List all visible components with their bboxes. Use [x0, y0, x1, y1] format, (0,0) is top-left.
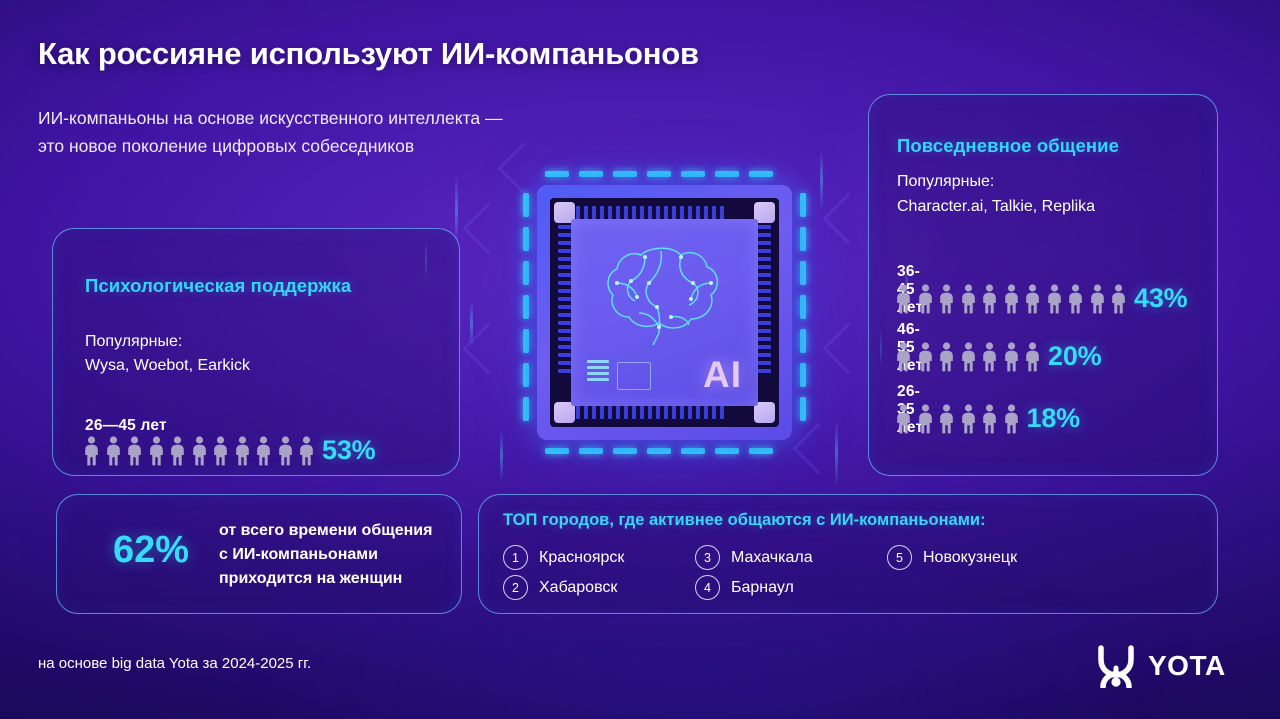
person-icon [895, 342, 912, 372]
card-psych-pictogram-row: 53% [83, 435, 375, 466]
card-psych-popular-label: Популярные: [85, 330, 182, 354]
person-icon [255, 436, 272, 466]
person-icon [1046, 284, 1063, 314]
person-icon [212, 436, 229, 466]
person-icon [960, 342, 977, 372]
city-rank-badge: 3 [695, 545, 720, 570]
card-psych-age-group: 26—45 лет [85, 417, 167, 435]
city-name: Барнаул [731, 579, 794, 597]
person-icon [298, 436, 315, 466]
person-icon [981, 284, 998, 314]
chip-pins-bottom [576, 404, 728, 419]
city-rank-badge: 1 [503, 545, 528, 570]
chip-corner-pad-br [754, 402, 775, 423]
person-icon [938, 404, 955, 434]
chip-ai-label: AI [703, 354, 742, 396]
card-top-cities: ТОП городов, где активнее общаются с ИИ-… [478, 494, 1218, 614]
yota-logo-wordmark: YOTA [1148, 650, 1226, 682]
women-share-percent: 62% [91, 529, 211, 572]
city-name: Красноярск [539, 549, 624, 567]
card-daily-popular-label: Популярные: [897, 170, 994, 194]
person-figures [895, 404, 1020, 434]
person-icon [938, 284, 955, 314]
page-title: Как россияне используют ИИ-компаньонов [38, 36, 699, 72]
person-icon [277, 436, 294, 466]
person-icon [895, 284, 912, 314]
city-rank-badge: 5 [887, 545, 912, 570]
person-icon [83, 436, 100, 466]
card-daily-title: Повседневное общение [897, 135, 1119, 157]
person-icon [1067, 284, 1084, 314]
card-psych-percent: 53% [322, 435, 375, 466]
age-group-percent: 18% [1027, 403, 1080, 434]
person-icon [126, 436, 143, 466]
subtitle-line-1: ИИ-компаньоны на основе искусственного и… [38, 104, 738, 132]
city-list-item: 3 Махачкала [695, 545, 813, 570]
chip-core: AI [571, 219, 758, 406]
brain-circuit-icon [583, 233, 748, 353]
person-icon [1089, 284, 1106, 314]
city-name: Махачкала [731, 549, 813, 567]
card-psych-title: Психологическая поддержка [85, 275, 351, 297]
card-psych-popular-apps: Wysa, Woebot, Earkick [85, 354, 250, 378]
women-text-line-2: с ИИ-компаньонами [219, 543, 449, 567]
person-icon [981, 404, 998, 434]
subtitle-line-2: это новое поколение цифровых собеседнико… [38, 132, 738, 160]
pictogram-row: 43% [895, 283, 1187, 314]
city-list-item: 5 Новокузнецк [887, 545, 1017, 570]
city-list-item: 1 Красноярск [503, 545, 624, 570]
person-icon [981, 342, 998, 372]
person-icon [148, 436, 165, 466]
city-list-item: 2 Хабаровск [503, 575, 617, 600]
person-icon [234, 436, 251, 466]
person-icon [105, 436, 122, 466]
yota-logo: YOTA [1097, 644, 1226, 688]
city-name: Новокузнецк [923, 549, 1017, 567]
age-group-percent: 43% [1134, 283, 1187, 314]
person-icon [1024, 284, 1041, 314]
chip-pins-right [756, 225, 771, 377]
chip-inner-square [617, 362, 651, 390]
person-icon [960, 284, 977, 314]
person-icon [917, 284, 934, 314]
person-icon [169, 436, 186, 466]
person-icon [960, 404, 977, 434]
card-psychological-support: Психологическая поддержка Популярные: Wy… [52, 228, 460, 476]
person-figures [895, 342, 1041, 372]
person-icon [917, 342, 934, 372]
cities-title: ТОП городов, где активнее общаются с ИИ-… [503, 511, 986, 530]
pictogram-row: 20% [895, 341, 1101, 372]
ai-chip-graphic: AI [537, 185, 792, 440]
person-icon [1003, 342, 1020, 372]
women-text-line-3: приходится на женщин [219, 567, 449, 591]
person-icon [938, 342, 955, 372]
women-text-line-1: от всего времени общения [219, 519, 449, 543]
age-group-percent: 20% [1048, 341, 1101, 372]
person-icon [1110, 284, 1127, 314]
city-list-item: 4 Барнаул [695, 575, 794, 600]
card-everyday-communication: Повседневное общение Популярные: Charact… [868, 94, 1218, 476]
person-figures [83, 436, 315, 466]
city-rank-badge: 2 [503, 575, 528, 600]
person-icon [895, 404, 912, 434]
card-daily-popular-apps: Character.ai, Talkie, Replika [897, 195, 1095, 219]
pictogram-row: 18% [895, 403, 1080, 434]
chip-indicator-lines [587, 360, 609, 384]
person-figures [895, 284, 1127, 314]
infographic-root: Как россияне используют ИИ-компаньонов И… [0, 0, 1280, 719]
footer-source-note: на основе big data Yota за 2024-2025 гг. [38, 655, 311, 672]
city-rank-badge: 4 [695, 575, 720, 600]
card-women-share: 62% от всего времени общения с ИИ-компан… [56, 494, 462, 614]
yota-logo-mark-icon [1097, 644, 1135, 688]
person-icon [1003, 404, 1020, 434]
women-share-text: от всего времени общения с ИИ-компаньона… [219, 519, 449, 591]
city-name: Хабаровск [539, 579, 617, 597]
person-icon [1003, 284, 1020, 314]
person-icon [1024, 342, 1041, 372]
person-icon [917, 404, 934, 434]
page-subtitle: ИИ-компаньоны на основе искусственного и… [38, 104, 738, 160]
person-icon [191, 436, 208, 466]
